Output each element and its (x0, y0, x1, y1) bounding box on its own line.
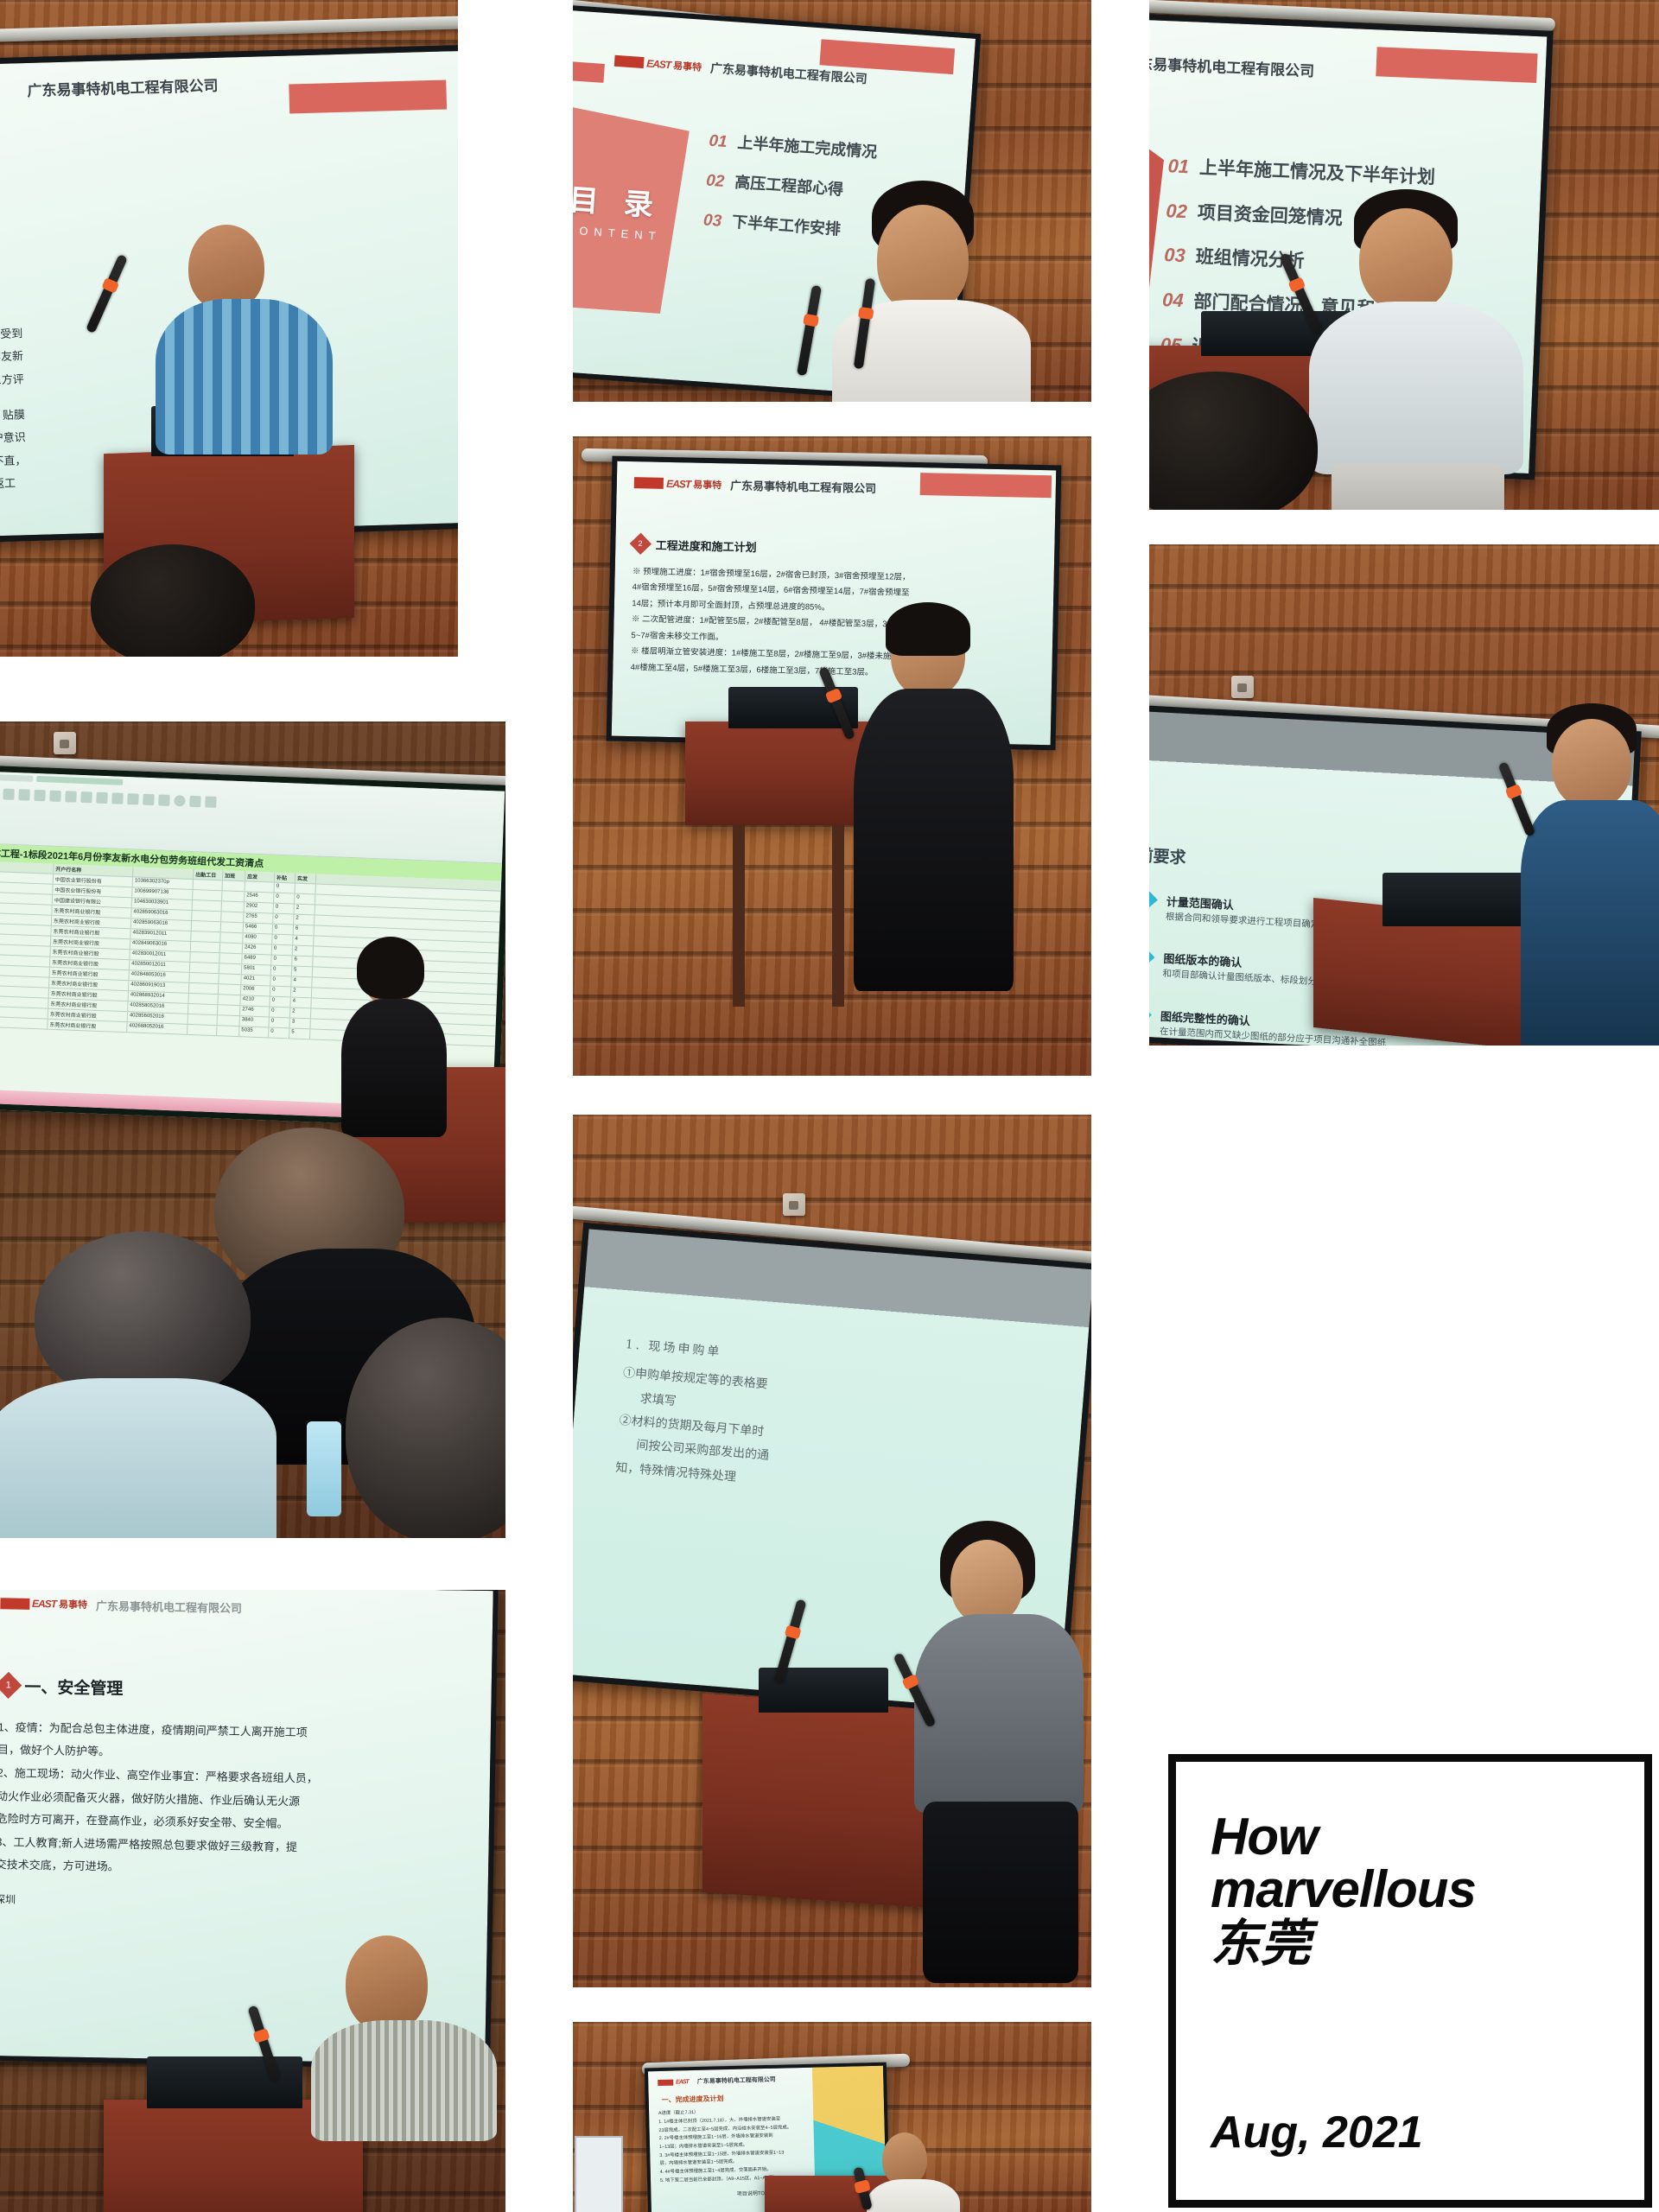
table-cell[interactable]: 东莞农村商业银行股 (48, 1020, 127, 1033)
table-cell[interactable]: 0 (270, 987, 291, 997)
table-column-header: 银行卡号 (0, 861, 54, 874)
presenter-torso (914, 1614, 1084, 1813)
east-logo-cn: 易事特 (693, 477, 721, 492)
table-cell[interactable]: 0 (271, 956, 292, 966)
table-cell[interactable] (220, 944, 243, 954)
presenter-torso (1309, 302, 1523, 474)
panel-agenda-five-items: 东易事特机电工程有限公司 01 上半年施工情况及下半年计划 02 项目资金回笼情… (1149, 0, 1659, 510)
table-cell[interactable]: 2902 (245, 903, 274, 913)
presenter-head (1552, 719, 1631, 809)
spreadsheet-tab[interactable] (0, 774, 33, 782)
table-cell[interactable] (219, 964, 242, 975)
presenter (1309, 194, 1525, 510)
toc-title-cn: 目 录 (573, 175, 664, 224)
agenda-item-number: 02 (1166, 200, 1188, 223)
panel-project-progress: EAST 易事特 广东易事特机电工程有限公司 2 工程进度和施工计划 ※ 预埋施… (573, 436, 1091, 1076)
table-cell[interactable]: 5801 (242, 965, 271, 976)
table-cell[interactable]: 5466 (244, 924, 273, 934)
power-outlet-icon (1231, 676, 1254, 698)
section-number: 1 (5, 1680, 10, 1690)
caption-line-cn: 东莞 (1211, 1916, 1610, 1974)
presenter (832, 186, 1031, 402)
east-logo: EAST (658, 2079, 689, 2086)
table-cell[interactable] (192, 921, 221, 931)
caption-line-2: marvellous (1211, 1863, 1610, 1916)
caption-line-1: How (1211, 1810, 1610, 1863)
table-cell[interactable]: 0 (270, 1007, 290, 1018)
table-cell[interactable]: 4210 (240, 996, 270, 1007)
table-cell[interactable] (190, 952, 219, 963)
table-column-header: 应发 (245, 872, 275, 882)
table-cell[interactable] (221, 912, 244, 923)
table-cell[interactable]: 4 (291, 977, 312, 988)
table-cell[interactable]: 0 (271, 966, 292, 976)
step-badge: 02 (1149, 947, 1155, 965)
east-logo: EAST 易事特 (0, 1596, 87, 1611)
filter-icon[interactable] (205, 796, 216, 807)
slide-header: 广东易事特机电工程有限公司 (27, 67, 451, 100)
ribbon-icon[interactable] (158, 794, 169, 805)
east-logo-word: EAST (32, 1598, 56, 1610)
panel-content-agenda: EAST 易事特 广东易事特机电工程有限公司 目 录 CONTENT 01 上半… (573, 0, 1091, 402)
presenter (156, 225, 337, 467)
table-cell[interactable]: 2 (294, 915, 315, 925)
spreadsheet-tab[interactable] (36, 776, 123, 785)
table-cell[interactable] (0, 944, 51, 957)
east-logo-mark (614, 55, 645, 68)
table-cell[interactable] (219, 985, 241, 995)
table-cell[interactable] (188, 1014, 218, 1025)
table-cell[interactable] (221, 923, 244, 933)
company-name: 广东易事特机电工程有限公司 (709, 59, 868, 87)
slide-section-title: 2 工程进度和施工计划 (633, 536, 1038, 561)
toc-item-label: 高压工程部心得 (734, 170, 845, 200)
table-cell[interactable]: 4 (293, 936, 314, 946)
slide-header: EAST 易事特 广东易事特机电工程有限公司 (634, 474, 1039, 499)
east-logo-cn: 易事特 (673, 58, 702, 73)
table-cell[interactable] (222, 881, 245, 892)
section-number: 2 (639, 539, 643, 548)
table-cell[interactable] (0, 1017, 48, 1029)
table-cell[interactable]: 4021 (241, 976, 270, 986)
table-cell[interactable] (0, 965, 50, 977)
table-column-header: 补贴 (275, 873, 296, 883)
slide-header: 东易事特机电工程有限公司 (1149, 52, 1529, 90)
table-cell[interactable]: 2765 (244, 913, 273, 924)
presenter-head (882, 2133, 927, 2186)
table-cell[interactable]: 0 (274, 904, 295, 914)
table-cell[interactable]: 2006 (241, 986, 270, 996)
slide-header: EAST 易事特 广东易事特机电工程有限公司 (0, 1595, 478, 1620)
caption-date: Aug, 2021 (1211, 2107, 1610, 2158)
audience-torso (0, 1378, 276, 1538)
table-cell[interactable]: 6489 (242, 955, 271, 965)
presenter-woman (341, 942, 454, 1141)
slide-section-title: 1 一、安全管理 (0, 1674, 476, 1706)
table-cell[interactable] (217, 1027, 239, 1037)
presenter-torso (867, 2179, 960, 2212)
east-logo-mark (658, 2079, 673, 2085)
table-cell[interactable]: 2 (291, 988, 312, 998)
step-badge: 03 (1149, 1005, 1152, 1023)
table-cell[interactable] (192, 911, 221, 921)
table-cell[interactable] (0, 996, 49, 1008)
table-cell[interactable] (193, 890, 222, 900)
table-cell[interactable]: 2546 (245, 893, 274, 903)
podium-leg (733, 825, 745, 1007)
table-cell[interactable]: 4 (290, 998, 311, 1008)
table-cell[interactable] (189, 973, 219, 983)
table-cell[interactable] (189, 983, 219, 994)
company-name: 广东易事特机电工程有限公司 (730, 477, 876, 497)
slide-header: EAST 易事特 广东易事特机电工程有限公司 (614, 52, 957, 93)
caption-card: How marvellous 东莞 Aug, 2021 (1168, 1754, 1652, 2208)
presenter-hair (357, 937, 424, 999)
ribbon-icon[interactable] (18, 789, 29, 800)
table-column-header: 加班 (223, 871, 245, 881)
slide-header: EAST 广东易事特机电工程有限公司 (658, 2073, 874, 2087)
table-cell[interactable] (0, 893, 53, 905)
table-cell[interactable]: 2746 (240, 1007, 270, 1017)
agenda-item-number: 01 (1167, 155, 1190, 178)
east-logo-mark (634, 477, 664, 489)
table-cell[interactable]: 4080 (243, 934, 272, 944)
table-cell[interactable] (219, 975, 241, 985)
table-cell[interactable]: 0 (270, 976, 291, 987)
east-logo-mark (0, 1598, 29, 1610)
presenter-torso (311, 2020, 497, 2141)
table-cell[interactable] (0, 955, 50, 967)
presenter-torso (1521, 800, 1659, 1046)
table-cell[interactable] (188, 994, 218, 1004)
section-title-text: 工程进度和施工计划 (655, 536, 756, 554)
photo-collage: 广东易事特机电工程有限公司 理一般受到 款，李友新 场第三方评 偏位，贴膜 品保… (0, 0, 1659, 2212)
step-badge: 01 (1149, 890, 1158, 908)
presenter-head (1359, 208, 1452, 312)
table-cell[interactable]: 2 (290, 1008, 311, 1019)
water-bottle (307, 1421, 341, 1516)
table-cell[interactable]: 6 (294, 925, 315, 936)
presenter (849, 609, 1022, 989)
panel-speaker-plaid-shirt: 广东易事特机电工程有限公司 理一般受到 款，李友新 场第三方评 偏位，贴膜 品保… (0, 0, 458, 657)
table-cell[interactable] (220, 933, 243, 944)
table-cell[interactable] (190, 963, 219, 973)
presenter-torso (156, 299, 333, 454)
ribbon-icon[interactable] (111, 792, 123, 804)
table-cell[interactable] (218, 995, 240, 1006)
section-number-badge: 2 (630, 533, 652, 555)
table-cell[interactable] (0, 934, 51, 946)
presenter (1521, 709, 1659, 1046)
east-logo-cn: 易事特 (59, 1598, 87, 1612)
ribbon-icon[interactable] (96, 792, 107, 804)
agenda-item-number: 03 (1164, 244, 1186, 267)
panel-handwritten-purchase-order: 1. 现场申购单 ①申购单按规定等的表格要 求填写 ②材料的货期及每月下单时 间… (573, 1115, 1091, 1987)
table-cell[interactable]: 2 (295, 905, 315, 915)
toc-item-number: 02 (705, 172, 725, 192)
east-logo: EAST 易事特 (614, 54, 702, 73)
company-name: 广东易事特机电工程有限公司 (697, 2075, 776, 2086)
table-cell[interactable]: 6 (292, 957, 313, 967)
caption-title-block: How marvellous 东莞 (1211, 1810, 1610, 1974)
table-cell[interactable] (188, 1004, 218, 1014)
search-icon[interactable] (174, 795, 185, 806)
table-cell[interactable] (218, 1006, 240, 1016)
table-cell[interactable]: 0 (272, 935, 293, 945)
table-cell[interactable]: 0 (274, 893, 295, 904)
presenter-head (188, 225, 264, 311)
whiteboard (575, 2136, 623, 2212)
ribbon-icon[interactable] (34, 790, 45, 801)
podium-leg (832, 825, 844, 1007)
toc-item-label: 下半年工作安排 (731, 209, 842, 239)
table-cell[interactable]: 0 (295, 894, 315, 905)
presenter-lower (1332, 464, 1504, 510)
table-cell[interactable] (222, 892, 245, 902)
toc-item-number: 03 (702, 211, 722, 231)
east-logo-word: EAST (646, 57, 671, 71)
handwritten-note: 1. 现场申购单 ①申购单按规定等的表格要 求填写 ②材料的货期及每月下单时 间… (614, 1333, 1040, 1513)
table-cell[interactable]: 402688052016 (127, 1023, 188, 1035)
section-title-text: 一、安全管理 (24, 1674, 123, 1699)
presenter-head (877, 205, 969, 314)
table-cell[interactable] (193, 900, 222, 911)
table-cell[interactable] (0, 872, 54, 884)
power-outlet-icon (783, 1193, 805, 1216)
presenter-head (950, 1540, 1023, 1624)
table-cell[interactable]: 0 (273, 925, 294, 935)
table-cell[interactable] (218, 1016, 240, 1027)
east-logo: EAST 易事特 (634, 476, 721, 492)
table-cell[interactable] (0, 986, 49, 998)
presenter-torso (854, 689, 1014, 991)
panel-completion-progress-plan: EAST 广东易事特机电工程有限公司 一、完成进度及计划 A进度（截止7.31）… (573, 2022, 1091, 2212)
ribbon-icon[interactable] (127, 793, 138, 804)
panel-safety-management: EAST 易事特 广东易事特机电工程有限公司 1 一、安全管理 1、疫情：为配合… (0, 1590, 505, 2212)
panel-payroll-and-audience: 主体工程-1标段2021年6月份李友新水电分包劳务班组代发工资清点 银行卡号开户… (0, 721, 505, 1538)
ribbon-icon[interactable] (143, 794, 154, 805)
table-cell[interactable]: 3840 (239, 1017, 269, 1027)
table-cell[interactable]: 2 (293, 946, 314, 957)
table-cell[interactable] (0, 1007, 48, 1019)
table-cell[interactable] (0, 882, 54, 894)
ribbon-icon[interactable] (65, 791, 76, 802)
table-cell[interactable] (191, 942, 220, 952)
presenter-head (346, 1935, 428, 2032)
table-cell[interactable] (219, 954, 242, 964)
presenter (867, 2133, 962, 2212)
company-name: 东易事特机电工程有限公司 (1149, 52, 1315, 81)
table-cell[interactable] (0, 913, 52, 925)
laptop (147, 2056, 302, 2108)
laptop (1382, 873, 1542, 926)
audience-head (91, 544, 255, 657)
table-cell[interactable]: 0 (270, 997, 290, 1007)
table-cell[interactable] (194, 880, 223, 890)
presenter-woman (914, 1529, 1087, 1979)
table-cell[interactable]: 5 (292, 967, 313, 977)
east-logo-word: EAST (666, 478, 690, 491)
table-cell[interactable] (0, 903, 53, 915)
ribbon-icon[interactable] (80, 791, 92, 803)
table-cell[interactable]: 3 (289, 1019, 310, 1029)
table-cell[interactable]: 0 (269, 1018, 289, 1028)
table-cell[interactable]: 5 (289, 1029, 310, 1039)
table-cell[interactable] (0, 924, 52, 936)
presenter-hair (886, 602, 970, 656)
table-cell[interactable]: 0 (269, 1028, 289, 1039)
toc-title-en: CONTENT (573, 223, 662, 243)
table-cell[interactable] (222, 902, 245, 912)
table-column-header: 实发 (296, 874, 316, 884)
section-number-badge: 1 (0, 1672, 22, 1699)
table-cell[interactable] (191, 931, 220, 942)
sum-icon[interactable] (189, 796, 200, 807)
ribbon-icon[interactable] (3, 788, 14, 799)
table-cell[interactable]: 0 (272, 945, 293, 956)
table-cell[interactable]: 5035 (239, 1027, 269, 1038)
section-title-text: 一、完成进度及计划 (661, 2090, 874, 2105)
slide-footer-text: 深圳 (0, 1889, 473, 1918)
table-cell[interactable] (0, 976, 49, 988)
table-cell[interactable]: 0 (274, 883, 295, 893)
company-name: 广东易事特机电工程有限公司 (27, 73, 219, 100)
presenter (311, 1935, 493, 2134)
ribbon-icon[interactable] (49, 791, 60, 802)
table-cell[interactable] (188, 1025, 217, 1035)
east-logo-word: EAST (676, 2079, 689, 2085)
table-cell[interactable] (295, 884, 315, 894)
agenda-item-number: 04 (1162, 289, 1185, 312)
power-outlet-icon (54, 732, 76, 754)
panel-settlement-requirements: 量前要求 01 计量范围确认 根据合同和领导要求进行工程项目确定范围及确定计价方… (1149, 544, 1659, 1046)
table-column-header: 出勤工日 (194, 869, 223, 880)
toc-item-number: 01 (709, 132, 728, 152)
presenter-torso (341, 999, 447, 1137)
company-name: 广东易事特机电工程有限公司 (96, 1597, 242, 1616)
table-cell[interactable] (245, 882, 274, 893)
table-cell[interactable]: 0 (273, 914, 294, 925)
table-cell[interactable]: 2426 (243, 944, 272, 955)
presenter-lower (923, 1802, 1078, 1983)
